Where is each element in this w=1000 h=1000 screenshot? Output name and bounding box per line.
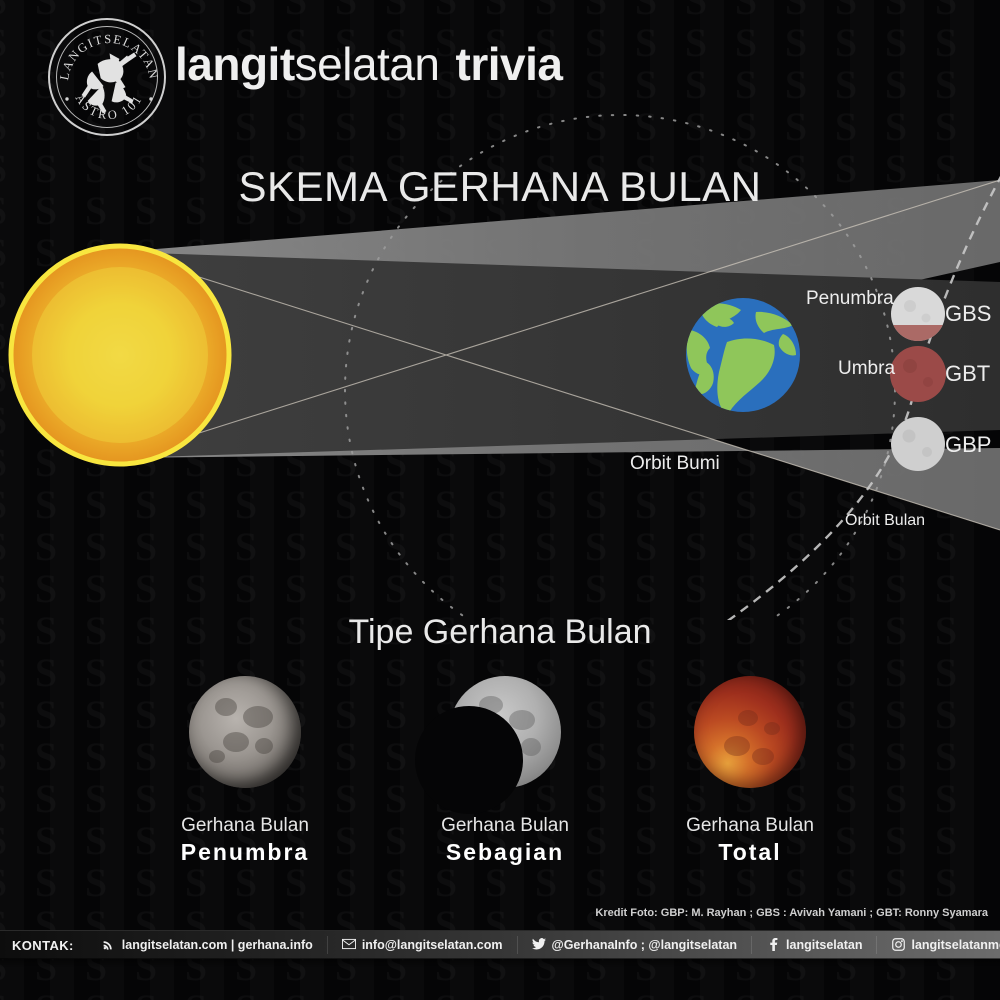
partial-moon-photo: [449, 676, 561, 788]
footer-item-label: langitselatanmedia: [911, 938, 1000, 952]
contact-footer-bar: KONTAK: langitselatan.com | gerhana.info…: [0, 930, 1000, 959]
total-caption: Gerhana Bulan Total: [625, 814, 875, 864]
partial-caption-line2: Sebagian: [380, 840, 630, 864]
footer-items: langitselatan.com | gerhana.infoinfo@lan…: [88, 936, 1000, 954]
eclipse-types-row: Gerhana Bulan Penumbra Gerhana Bulan Seb…: [0, 676, 1000, 876]
partial-caption: Gerhana Bulan Sebagian: [380, 814, 630, 864]
footer-item-facebook[interactable]: langitselatan: [752, 938, 876, 953]
wordmark-light: selatan: [295, 38, 440, 90]
partial-caption-line1: Gerhana Bulan: [441, 815, 569, 836]
twitter-icon: [532, 938, 546, 952]
moon-gbt: [890, 346, 946, 402]
label-orbit-bulan: Orbit Bulan: [845, 512, 925, 530]
penumbral-caption-line2: Penumbra: [120, 840, 370, 864]
total-moon-photo: [694, 676, 806, 788]
wordmark: langitselatantrivia: [175, 38, 562, 90]
total-caption-line1: Gerhana Bulan: [686, 815, 814, 836]
penumbral-caption: Gerhana Bulan Penumbra: [120, 814, 370, 864]
wordmark-trivia: trivia: [456, 38, 563, 90]
header: LANGITSELATAN ASTRO 101 langitselatant: [0, 0, 1000, 140]
label-gbs: GBS: [945, 301, 991, 327]
infographic-page: SSSSSSSSSSSSSSSSSSSSSSSSSSSSSSSSSSSSSSSS…: [0, 0, 1000, 1000]
facebook-icon: [766, 938, 780, 953]
moon-gbp: [891, 417, 945, 471]
rss-icon: [102, 938, 116, 953]
langitselatan-seal-logo: LANGITSELATAN ASTRO 101: [48, 18, 166, 136]
envelope-icon: [342, 938, 356, 952]
footer-item-label: langitselatan: [786, 938, 862, 952]
total-caption-line2: Total: [625, 840, 875, 864]
eclipse-type-penumbral: Gerhana Bulan Penumbra: [120, 676, 370, 864]
footer-item-label: langitselatan.com | gerhana.info: [122, 938, 313, 952]
label-penumbra: Penumbra: [806, 288, 894, 310]
page-title: SKEMA GERHANA BULAN: [0, 163, 1000, 211]
partial-shadow-bite: [415, 706, 523, 814]
footer-item-rss[interactable]: langitselatan.com | gerhana.info: [88, 938, 327, 953]
footer-item-label: info@langitselatan.com: [362, 938, 503, 952]
label-orbit-bumi: Orbit Bumi: [630, 453, 720, 475]
footer-item-instagram[interactable]: langitselatanmedia: [877, 938, 1000, 953]
label-umbra: Umbra: [838, 358, 895, 380]
penumbral-caption-line1: Gerhana Bulan: [181, 815, 309, 836]
footer-item-twitter[interactable]: @GerhanaInfo ; @langitselatan: [518, 938, 752, 952]
label-gbp: GBP: [945, 432, 991, 458]
eclipse-type-total: Gerhana Bulan Total: [625, 676, 875, 864]
wordmark-bold: langit: [175, 38, 295, 90]
footer-item-envelope[interactable]: info@langitselatan.com: [328, 938, 517, 952]
footer-item-label: @GerhanaInfo ; @langitselatan: [552, 938, 738, 952]
penumbral-moon-photo: [189, 676, 301, 788]
eclipse-type-partial: Gerhana Bulan Sebagian: [380, 676, 630, 864]
umbra-cone: [120, 252, 1000, 458]
label-gbt: GBT: [945, 361, 990, 387]
sun: [10, 245, 230, 465]
photo-credit: Kredit Foto: GBP: M. Rayhan ; GBS : Aviv…: [595, 907, 988, 919]
kontak-label: KONTAK:: [0, 938, 88, 953]
types-section-title: Tipe Gerhana Bulan: [0, 613, 1000, 652]
seal-artwork-icon: LANGITSELATAN ASTRO 101: [50, 20, 168, 138]
footer-shadow: [0, 958, 1000, 968]
instagram-icon: [891, 938, 905, 953]
